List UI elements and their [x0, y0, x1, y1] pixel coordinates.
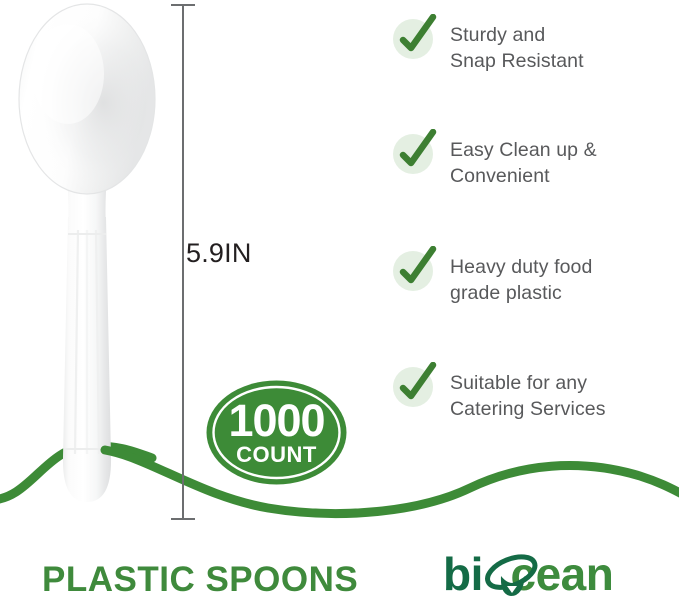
dimension-shaft — [182, 4, 184, 520]
feature-item: Heavy duty food grade plastic — [392, 246, 592, 306]
dimension-cap-bottom — [171, 518, 195, 520]
count-badge: 1000 COUNT — [205, 379, 348, 486]
page-title: PLASTIC SPOONS — [42, 560, 358, 600]
feature-label: Heavy duty food grade plastic — [450, 254, 592, 306]
dimension-label: 5.9IN — [186, 238, 252, 269]
brand-wordmark-part1: bi — [443, 548, 483, 600]
check-icon — [392, 129, 438, 177]
count-badge-caption: COUNT — [236, 444, 317, 466]
feature-item: Sturdy and Snap Resistant — [392, 14, 584, 74]
feature-label: Suitable for any Catering Services — [450, 370, 606, 422]
feature-label: Sturdy and Snap Resistant — [450, 22, 584, 74]
feature-item: Easy Clean up & Convenient — [392, 129, 597, 189]
check-icon — [392, 362, 438, 410]
brand-logo: biocean — [443, 548, 648, 600]
orbit-swoosh-icon — [483, 546, 541, 602]
feature-label: Easy Clean up & Convenient — [450, 137, 597, 189]
count-badge-text: 1000 COUNT — [205, 379, 348, 486]
feature-item: Suitable for any Catering Services — [392, 362, 606, 422]
check-icon — [392, 246, 438, 294]
count-badge-number: 1000 — [228, 399, 324, 443]
product-infographic: 5.9IN 1000 COUNT Sturdy and Snap Resista… — [0, 0, 679, 603]
check-icon — [392, 14, 438, 62]
